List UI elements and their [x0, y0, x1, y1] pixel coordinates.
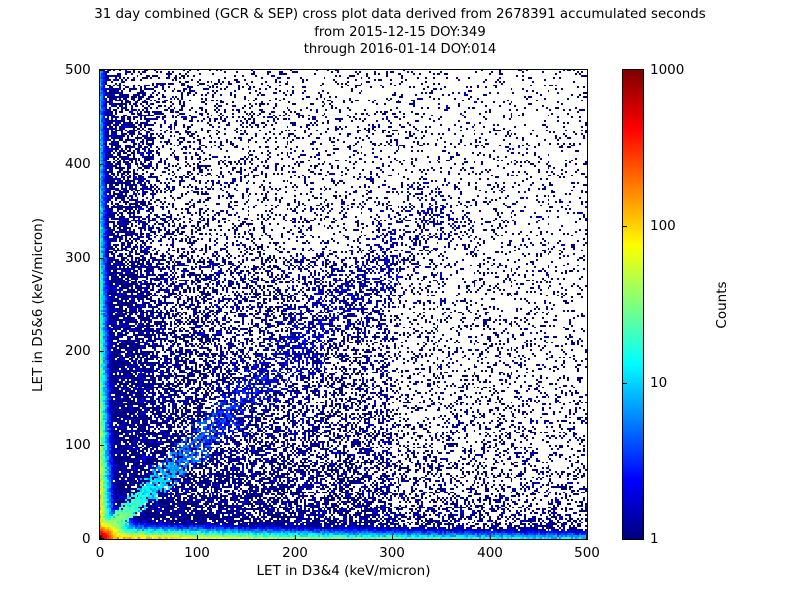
y-tick-label: 300 — [65, 250, 91, 266]
x-tick-label: 300 — [379, 545, 405, 561]
y-tick-label: 500 — [65, 62, 91, 78]
y-tick — [100, 445, 104, 446]
y-tick-label: 100 — [65, 437, 91, 453]
colorbar-tick-label: 1000 — [650, 62, 684, 78]
x-tick-label: 400 — [477, 545, 503, 561]
y-tick — [100, 70, 104, 71]
colorbar-label-wrap: Counts — [714, 305, 724, 306]
x-axis-label: LET in D3&4 (keV/micron) — [99, 563, 588, 579]
colorbar-tick-label: 1 — [650, 531, 659, 547]
x-tick-label: 200 — [282, 545, 308, 561]
x-tick — [490, 535, 491, 539]
x-tick-label: 0 — [96, 545, 105, 561]
chart-title: 31 day combined (GCR & SEP) cross plot d… — [0, 6, 800, 59]
x-tick — [586, 535, 587, 539]
colorbar-tick-label: 100 — [650, 218, 676, 234]
title-line-3: through 2016-01-14 DOY:014 — [0, 41, 800, 59]
x-tick — [197, 535, 198, 539]
x-tick-label: 500 — [574, 545, 600, 561]
x-tick — [392, 535, 393, 539]
colorbar-label: Counts — [714, 281, 730, 328]
density-heatmap — [100, 70, 587, 539]
y-axis-label-wrap: LET in D5&6 (keV/micron) — [30, 305, 50, 306]
colorbar — [622, 69, 644, 540]
chart-figure: 31 day combined (GCR & SEP) cross plot d… — [0, 0, 800, 600]
colorbar-tick — [623, 226, 627, 227]
y-tick — [100, 258, 104, 259]
y-tick — [100, 164, 104, 165]
y-tick-label: 200 — [65, 343, 91, 359]
colorbar-tick — [623, 383, 627, 384]
x-tick-label: 100 — [184, 545, 210, 561]
y-tick-label: 0 — [82, 531, 91, 547]
colorbar-tick-label: 10 — [650, 375, 667, 391]
colorbar-gradient — [623, 70, 643, 539]
y-tick-label: 400 — [65, 156, 91, 172]
y-tick — [100, 351, 104, 352]
y-axis-label: LET in D5&6 (keV/micron) — [30, 218, 46, 392]
y-tick — [100, 538, 104, 539]
x-tick — [295, 535, 296, 539]
title-line-2: from 2015-12-15 DOY:349 — [0, 24, 800, 42]
title-line-1: 31 day combined (GCR & SEP) cross plot d… — [0, 6, 800, 24]
plot-area — [99, 69, 588, 540]
